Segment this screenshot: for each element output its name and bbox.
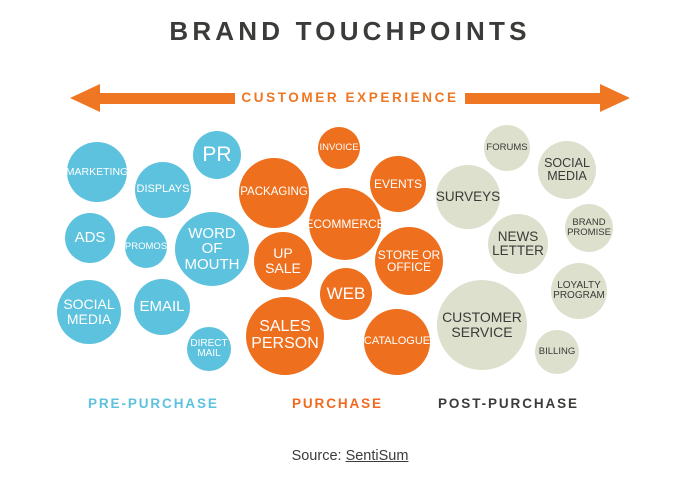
bubble-label: LOYALTY PROGRAM xyxy=(553,281,605,302)
bubble-label: SALES PERSON xyxy=(248,319,322,352)
bubble-invoice[interactable]: INVOICE xyxy=(318,127,360,169)
bubble-sales-person[interactable]: SALES PERSON xyxy=(246,297,324,375)
bubble-marketing[interactable]: MARKETING xyxy=(67,142,127,202)
bubble-promos[interactable]: PROMOS xyxy=(125,226,167,268)
bubble-customer-service[interactable]: CUSTOMER SERVICE xyxy=(437,280,527,370)
bubble-label: MARKETING xyxy=(66,167,128,178)
bubble-web[interactable]: WEB xyxy=(320,268,372,320)
bubble-label: NEWS LETTER xyxy=(490,230,546,258)
bubble-label: SURVEYS xyxy=(436,190,500,204)
stage-label-post-purchase: POST-PURCHASE xyxy=(438,396,579,411)
source-prefix: Source: xyxy=(292,448,346,464)
bubble-billing[interactable]: BILLING xyxy=(535,330,579,374)
source-line: Source: SentiSum xyxy=(0,448,700,464)
bubble-surveys[interactable]: SURVEYS xyxy=(436,165,500,229)
bubble-events[interactable]: EVENTS xyxy=(370,156,426,212)
bubble-ads[interactable]: ADS xyxy=(65,213,115,263)
bubble-up-sale[interactable]: UP SALE xyxy=(254,232,312,290)
bubble-label: CUSTOMER SERVICE xyxy=(439,310,525,339)
bubble-label: UP SALE xyxy=(256,246,310,275)
bubble-label: SOCIAL MEDIA xyxy=(59,297,119,326)
bubble-label: EVENTS xyxy=(374,178,422,190)
bubble-catalogue[interactable]: CATALOGUE xyxy=(364,309,430,375)
bubble-ecommerce[interactable]: ECOMMERCE xyxy=(309,188,381,260)
bubble-label: FORUMS xyxy=(486,143,527,153)
bubble-social-media[interactable]: SOCIAL MEDIA xyxy=(538,141,596,199)
bubble-store-or-office[interactable]: STORE OR OFFICE xyxy=(375,227,443,295)
bubble-packaging[interactable]: PACKAGING xyxy=(239,158,309,228)
bubble-label: ECOMMERCE xyxy=(305,218,384,230)
bubble-direct-mail[interactable]: DIRECT MAIL xyxy=(187,327,231,371)
bubble-pr[interactable]: PR xyxy=(193,131,241,179)
bubble-label: SOCIAL MEDIA xyxy=(540,157,594,183)
bubble-label: BILLING xyxy=(539,347,575,357)
bubble-word-of-mouth[interactable]: WORD OF MOUTH xyxy=(175,212,249,286)
bubble-loyalty-program[interactable]: LOYALTY PROGRAM xyxy=(551,263,607,319)
bubble-label: STORE OR OFFICE xyxy=(377,249,441,274)
bubble-label: INVOICE xyxy=(319,143,358,153)
stage-label-purchase: PURCHASE xyxy=(292,396,383,411)
bubble-forums[interactable]: FORUMS xyxy=(484,125,530,171)
bubble-label: EMAIL xyxy=(139,299,184,315)
bubble-label: BRAND PROMISE xyxy=(567,218,611,238)
stage-label-pre-purchase: PRE-PURCHASE xyxy=(88,396,219,411)
bubble-label: WEB xyxy=(327,285,366,303)
bubble-social-media[interactable]: SOCIAL MEDIA xyxy=(57,280,121,344)
bubble-label: PROMOS xyxy=(125,242,167,252)
bubble-label: PACKAGING xyxy=(240,187,308,199)
bubble-brand-promise[interactable]: BRAND PROMISE xyxy=(565,204,613,252)
bubble-label: DISPLAYS xyxy=(137,184,190,195)
bubble-label: DIRECT MAIL xyxy=(189,339,229,360)
bubble-displays[interactable]: DISPLAYS xyxy=(135,162,191,218)
bubble-email[interactable]: EMAIL xyxy=(134,279,190,335)
source-link[interactable]: SentiSum xyxy=(346,448,409,464)
bubble-label: PR xyxy=(202,144,231,166)
bubble-news-letter[interactable]: NEWS LETTER xyxy=(488,214,548,274)
infographic-canvas: BRAND TOUCHPOINTS CUSTOMER EXPERIENCE MA… xyxy=(0,0,700,477)
bubble-label: ADS xyxy=(75,230,106,246)
bubble-label: WORD OF MOUTH xyxy=(177,226,247,273)
bubble-label: CATALOGUE xyxy=(364,336,430,347)
